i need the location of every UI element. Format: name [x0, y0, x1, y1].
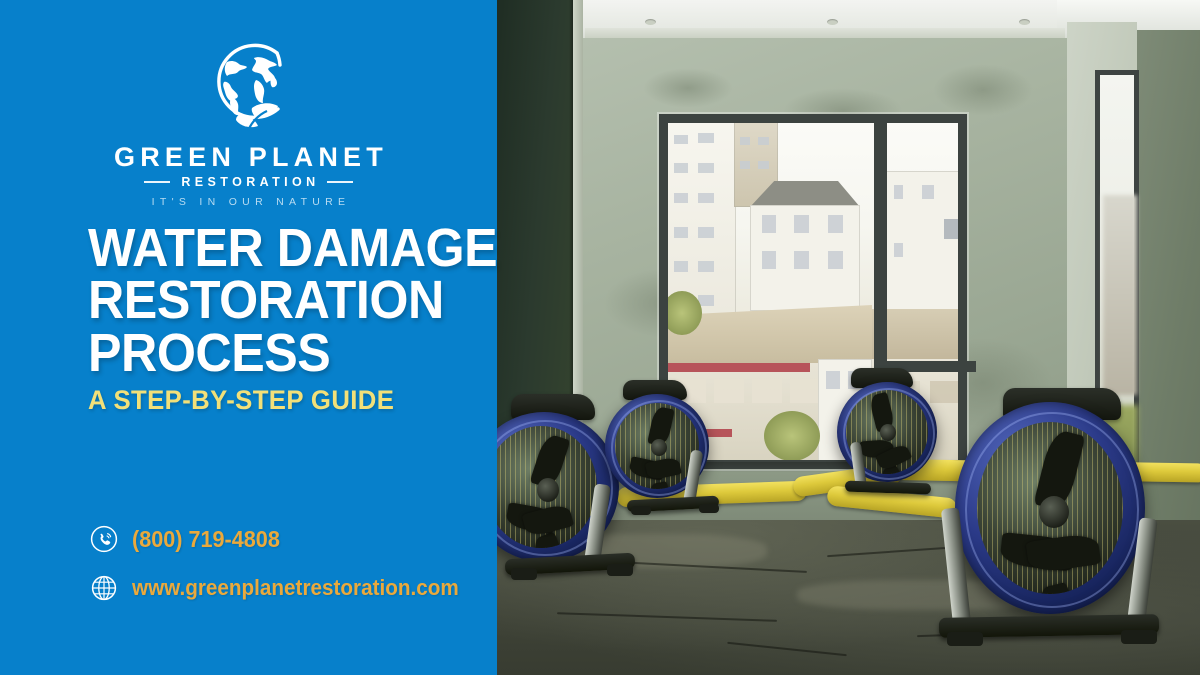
building-window: [828, 215, 843, 233]
building-window: [762, 251, 776, 269]
globe-wireframe-icon: [90, 574, 118, 602]
fan-foot: [1121, 630, 1157, 644]
headline-line-3: PROCESS: [88, 327, 460, 379]
ceiling-downlight: [1019, 19, 1030, 25]
wall-stain: [933, 64, 1033, 116]
floor-crack: [727, 642, 847, 657]
fan-foot: [699, 504, 719, 513]
building-window: [794, 251, 809, 269]
fan-shroud: [955, 402, 1145, 614]
shop-window: [790, 379, 820, 403]
red-awning: [668, 363, 810, 372]
building-window: [944, 219, 958, 239]
shop-window: [714, 379, 744, 403]
fan-foot: [947, 632, 983, 646]
building-window: [698, 227, 714, 238]
building-window: [826, 371, 840, 389]
rule-right: [327, 181, 353, 183]
website-row[interactable]: www.greenplanetrestoration.com: [90, 567, 480, 609]
restoration-equipment-photo: [497, 0, 1200, 675]
building-window: [894, 185, 903, 199]
building-window: [674, 193, 688, 203]
tree-foliage: [764, 411, 820, 460]
headline-block: WATER DAMAGE RESTORATION PROCESS A STEP-…: [88, 222, 488, 416]
building-window: [674, 227, 688, 238]
building-window: [758, 137, 769, 145]
brand-name-secondary: RESTORATION: [177, 176, 319, 189]
headline-line-1: WATER DAMAGE: [88, 222, 460, 274]
building-window: [698, 133, 714, 143]
fan-rim-highlight: [965, 412, 1139, 608]
phone-number: (800) 719-4808: [132, 526, 280, 553]
building-window: [758, 161, 769, 169]
building-window: [740, 161, 750, 169]
building-window: [698, 193, 714, 203]
building-window: [698, 163, 714, 173]
building-window: [794, 215, 809, 233]
rule-left: [144, 181, 170, 183]
building-window: [828, 251, 843, 269]
building-window: [674, 261, 688, 272]
contact-block: (800) 719-4808 www.greenplanetrestoratio…: [90, 518, 480, 609]
fan-foot: [631, 506, 651, 515]
ceiling-downlight: [645, 19, 656, 25]
building-window: [698, 261, 714, 272]
website-url: www.greenplanetrestoration.com: [132, 575, 459, 601]
building-window: [762, 215, 776, 233]
building-window: [674, 135, 688, 144]
shop-window: [752, 379, 782, 403]
building-window: [894, 243, 903, 257]
side-window-building: [1103, 195, 1137, 395]
brand-tagline: IT'S IN OUR NATURE: [0, 196, 497, 208]
brand-panel: GREEN PLANET RESTORATION IT'S IN OUR NAT…: [0, 0, 497, 675]
headline-subtitle: A STEP-BY-STEP GUIDE: [88, 385, 476, 416]
building-window: [922, 185, 934, 199]
building-window: [740, 137, 750, 145]
building-window: [674, 163, 688, 173]
phone-call-icon: [90, 525, 118, 553]
wall-stain: [643, 68, 733, 108]
brand-name-primary: GREEN PLANET: [0, 144, 497, 171]
phone-row[interactable]: (800) 719-4808: [90, 518, 480, 560]
ceiling-downlight: [827, 19, 838, 25]
headline-line-2: RESTORATION: [88, 274, 460, 326]
shop-window: [930, 381, 958, 403]
brand-name-secondary-row: RESTORATION: [0, 176, 497, 189]
fan-foot: [511, 568, 537, 580]
logo-block: GREEN PLANET RESTORATION IT'S IN OUR NAT…: [0, 30, 497, 208]
globe-leaf-icon: [194, 30, 304, 138]
fan-foot: [607, 564, 633, 576]
fan-shroud: [837, 382, 937, 482]
floor-crack: [557, 612, 777, 622]
promotional-banner: GREEN PLANET RESTORATION IT'S IN OUR NAT…: [0, 0, 1200, 675]
